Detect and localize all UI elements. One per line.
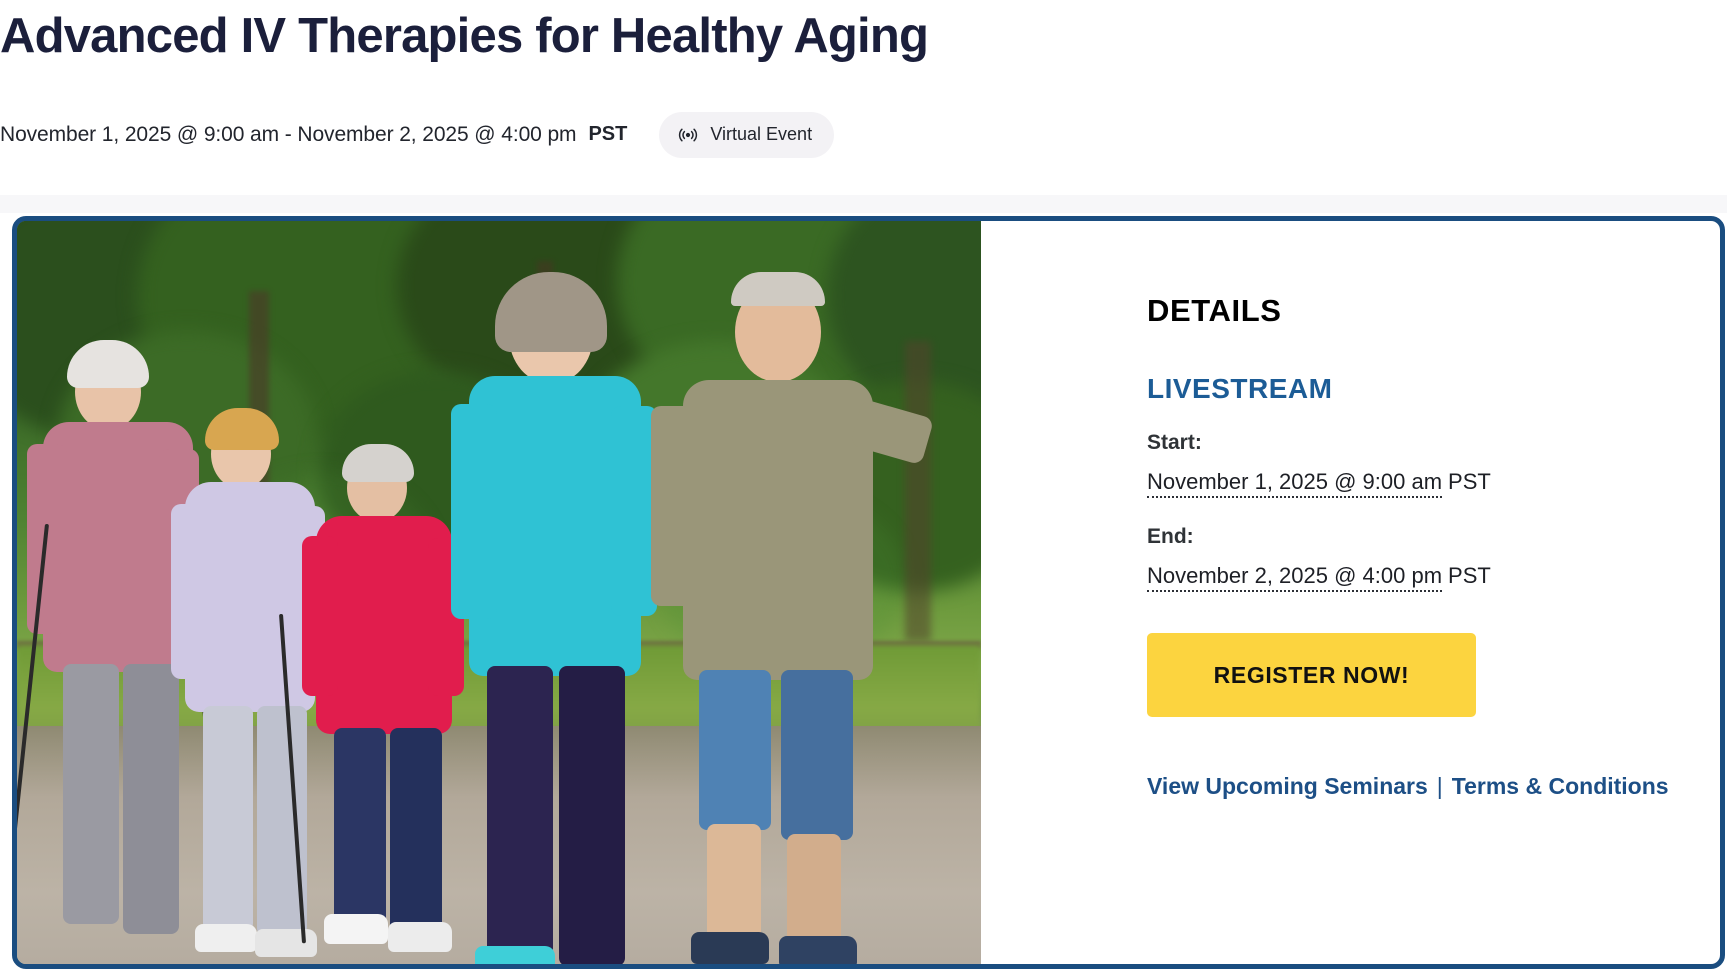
register-now-button[interactable]: REGISTER NOW!: [1147, 633, 1476, 717]
end-datetime: November 2, 2025 @ 4:00 pm: [1147, 563, 1442, 592]
virtual-event-badge[interactable]: Virtual Event: [659, 112, 834, 158]
end-value-row: November 2, 2025 @ 4:00 pmPST: [1147, 563, 1720, 589]
start-timezone: PST: [1448, 469, 1491, 494]
view-upcoming-seminars-link[interactable]: View Upcoming Seminars: [1147, 773, 1428, 799]
event-header: Advanced IV Therapies for Healthy Aging …: [0, 0, 1727, 158]
link-separator: |: [1437, 773, 1443, 799]
event-meta-row: November 1, 2025 @ 9:00 am - November 2,…: [0, 112, 1727, 158]
walker-figure: [647, 264, 937, 964]
terms-and-conditions-link[interactable]: Terms & Conditions: [1452, 773, 1669, 799]
page-title: Advanced IV Therapies for Healthy Aging: [0, 0, 1727, 64]
start-label: Start:: [1147, 431, 1720, 455]
event-page: Advanced IV Therapies for Healthy Aging …: [0, 0, 1727, 969]
section-divider-band: [0, 195, 1727, 213]
livestream-heading: LIVESTREAM: [1147, 373, 1720, 405]
event-card: DETAILS LIVESTREAM Start: November 1, 20…: [12, 216, 1725, 969]
event-timezone: PST: [588, 123, 627, 146]
details-panel: DETAILS LIVESTREAM Start: November 1, 20…: [981, 221, 1720, 964]
event-image: [17, 221, 981, 964]
broadcast-icon: [677, 124, 699, 146]
start-value-row: November 1, 2025 @ 9:00 amPST: [1147, 469, 1720, 495]
end-label: End:: [1147, 525, 1720, 549]
start-datetime: November 1, 2025 @ 9:00 am: [1147, 469, 1442, 498]
virtual-event-label: Virtual Event: [710, 124, 812, 145]
end-timezone: PST: [1448, 563, 1491, 588]
footer-links: View Upcoming Seminars|Terms & Condition…: [1147, 773, 1720, 800]
walker-figure: [447, 264, 677, 964]
event-date-range: November 1, 2025 @ 9:00 am - November 2,…: [0, 123, 576, 147]
park-photo: [17, 221, 981, 964]
details-heading: DETAILS: [1147, 293, 1720, 329]
